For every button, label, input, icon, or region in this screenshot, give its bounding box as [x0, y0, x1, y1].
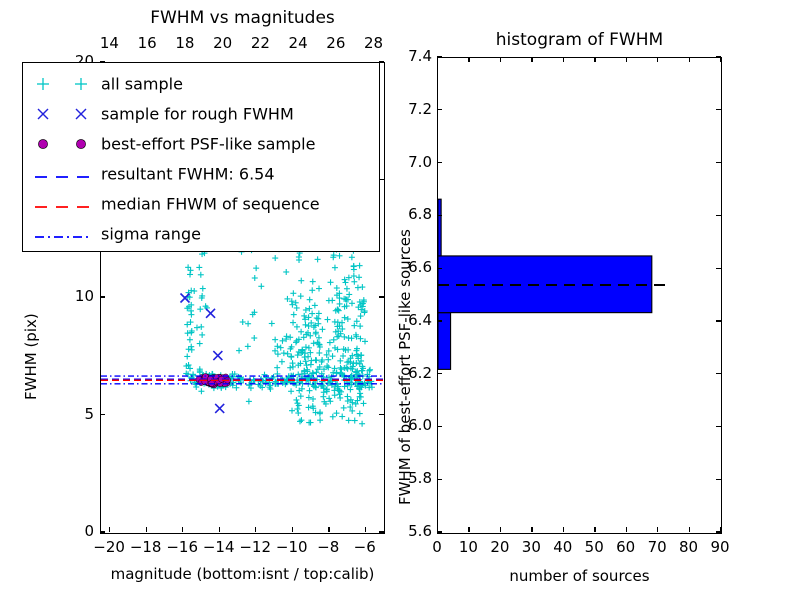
axis-tick [594, 57, 595, 62]
axis-tick [531, 527, 532, 532]
legend-cross-icon [75, 108, 88, 121]
axis-tick [468, 57, 469, 62]
legend-entry-0[interactable]: all sample [23, 69, 379, 99]
left-top-tick-28: 28 [362, 34, 386, 52]
right-x-tick-30: 30 [515, 538, 547, 556]
axis-tick [716, 268, 721, 269]
left-top-tick-26: 26 [324, 34, 348, 52]
axis-tick [437, 531, 442, 532]
left-top-tick-20: 20 [211, 34, 235, 52]
right-xlabel: number of sources [437, 567, 722, 585]
axis-tick [626, 527, 627, 532]
axis-tick [594, 527, 595, 532]
right-x-tick-0: 0 [421, 538, 453, 556]
axis-tick [365, 527, 366, 532]
legend-cross-icon [37, 108, 50, 121]
legend-entry-4[interactable]: median FHWM of sequence [23, 189, 379, 219]
axis-tick [100, 531, 105, 532]
axis-tick [657, 57, 658, 62]
axis-tick [716, 56, 721, 57]
right-x-tick-80: 80 [673, 538, 705, 556]
left-bottom-tick-7: −6 [345, 538, 385, 556]
axis-tick [182, 527, 183, 532]
right-ylabel: FWHM of best-effort PSF-like sources [396, 229, 414, 505]
right-x-tick-90: 90 [704, 538, 736, 556]
axis-tick [689, 527, 690, 532]
right-x-tick-70: 70 [641, 538, 673, 556]
axis-tick [716, 426, 721, 427]
left-panel-title: FWHM vs magnitudes [100, 8, 385, 28]
legend: all samplesample for rough FWHMbest-effo… [22, 62, 380, 252]
left-bottom-tick-4: −12 [235, 538, 275, 556]
axis-tick [500, 527, 501, 532]
left-bottom-tick-1: −18 [126, 538, 166, 556]
left-bottom-tick-0: −20 [89, 538, 129, 556]
axis-tick [100, 414, 105, 415]
legend-plus-icon [75, 78, 88, 91]
legend-label: all sample [101, 75, 183, 94]
left-xlabel: magnitude (bottom:isnt / top:calib) [100, 565, 385, 583]
right-plot-area [437, 57, 722, 534]
axis-tick [437, 268, 442, 269]
left-top-tick-18: 18 [173, 34, 197, 52]
axis-tick [716, 373, 721, 374]
left-bottom-tick-5: −10 [272, 538, 312, 556]
axis-tick [292, 527, 293, 532]
right-panel-title: histogram of FWHM [437, 30, 722, 50]
axis-tick [437, 320, 442, 321]
axis-tick [563, 57, 564, 62]
axis-tick [437, 373, 442, 374]
legend-label: sample for rough FWHM [101, 105, 294, 124]
axis-tick [716, 531, 721, 532]
axis-tick [146, 527, 147, 532]
right-x-tick-40: 40 [547, 538, 579, 556]
figure-canvas: FWHM vs magnitudes 1416182022242628 −20−… [0, 0, 800, 600]
legend-label: median FHWM of sequence [101, 195, 320, 214]
axis-tick [255, 527, 256, 532]
axis-tick [437, 57, 438, 62]
legend-entry-3[interactable]: resultant FWHM: 6.54 [23, 159, 379, 189]
axis-tick [379, 414, 384, 415]
left-top-tick-16: 16 [135, 34, 159, 52]
axis-tick [109, 527, 110, 532]
left-top-tick-24: 24 [286, 34, 310, 52]
axis-tick [657, 527, 658, 532]
right-y-tick-7.0: 7.0 [394, 153, 432, 171]
right-y-tick-7.2: 7.2 [394, 100, 432, 118]
right-x-tick-10: 10 [452, 538, 484, 556]
axis-tick [716, 479, 721, 480]
right-x-tick-50: 50 [578, 538, 610, 556]
right-x-tick-60: 60 [610, 538, 642, 556]
legend-entry-5[interactable]: sigma range [23, 219, 379, 249]
axis-tick [219, 527, 220, 532]
axis-tick [689, 57, 690, 62]
left-y-tick-0: 0 [58, 522, 94, 540]
axis-tick [328, 527, 329, 532]
left-y-tick-10: 10 [58, 287, 94, 305]
legend-label: resultant FWHM: 6.54 [101, 165, 275, 184]
axis-tick [379, 531, 384, 532]
legend-entry-1[interactable]: sample for rough FWHM [23, 99, 379, 129]
axis-tick [563, 527, 564, 532]
legend-circle-icon [75, 138, 88, 151]
legend-circle-icon [37, 138, 50, 151]
left-top-tick-14: 14 [97, 34, 121, 52]
axis-tick [437, 215, 442, 216]
left-y-tick-5: 5 [58, 405, 94, 423]
left-bottom-tick-2: −16 [162, 538, 202, 556]
axis-tick [716, 162, 721, 163]
axis-tick [437, 56, 442, 57]
series-rough-fwhm-sample [180, 294, 224, 413]
axis-tick [437, 426, 442, 427]
legend-plus-icon [37, 78, 50, 91]
axis-tick [437, 162, 442, 163]
axis-tick [716, 320, 721, 321]
left-ylabel: FWHM (pix) [22, 313, 40, 400]
axis-tick [437, 479, 442, 480]
axis-tick [437, 109, 442, 110]
legend-label: sigma range [101, 225, 201, 244]
axis-tick [716, 109, 721, 110]
axis-tick [716, 215, 721, 216]
axis-tick [100, 296, 105, 297]
right-y-tick-7.4: 7.4 [394, 47, 432, 65]
histogram-svg [438, 58, 721, 533]
left-top-tick-22: 22 [248, 34, 272, 52]
axis-tick [626, 57, 627, 62]
legend-entry-2[interactable]: best-effort PSF-like sample [23, 129, 379, 159]
axis-tick [531, 57, 532, 62]
left-bottom-tick-6: −8 [308, 538, 348, 556]
legend-label: best-effort PSF-like sample [101, 135, 315, 154]
right-x-tick-20: 20 [484, 538, 516, 556]
left-bottom-tick-3: −14 [199, 538, 239, 556]
axis-tick [468, 527, 469, 532]
axis-tick [500, 57, 501, 62]
right-y-tick-6.8: 6.8 [394, 205, 432, 223]
right-y-tick-5.6: 5.6 [394, 522, 432, 540]
axis-tick [720, 57, 721, 62]
axis-tick [379, 296, 384, 297]
